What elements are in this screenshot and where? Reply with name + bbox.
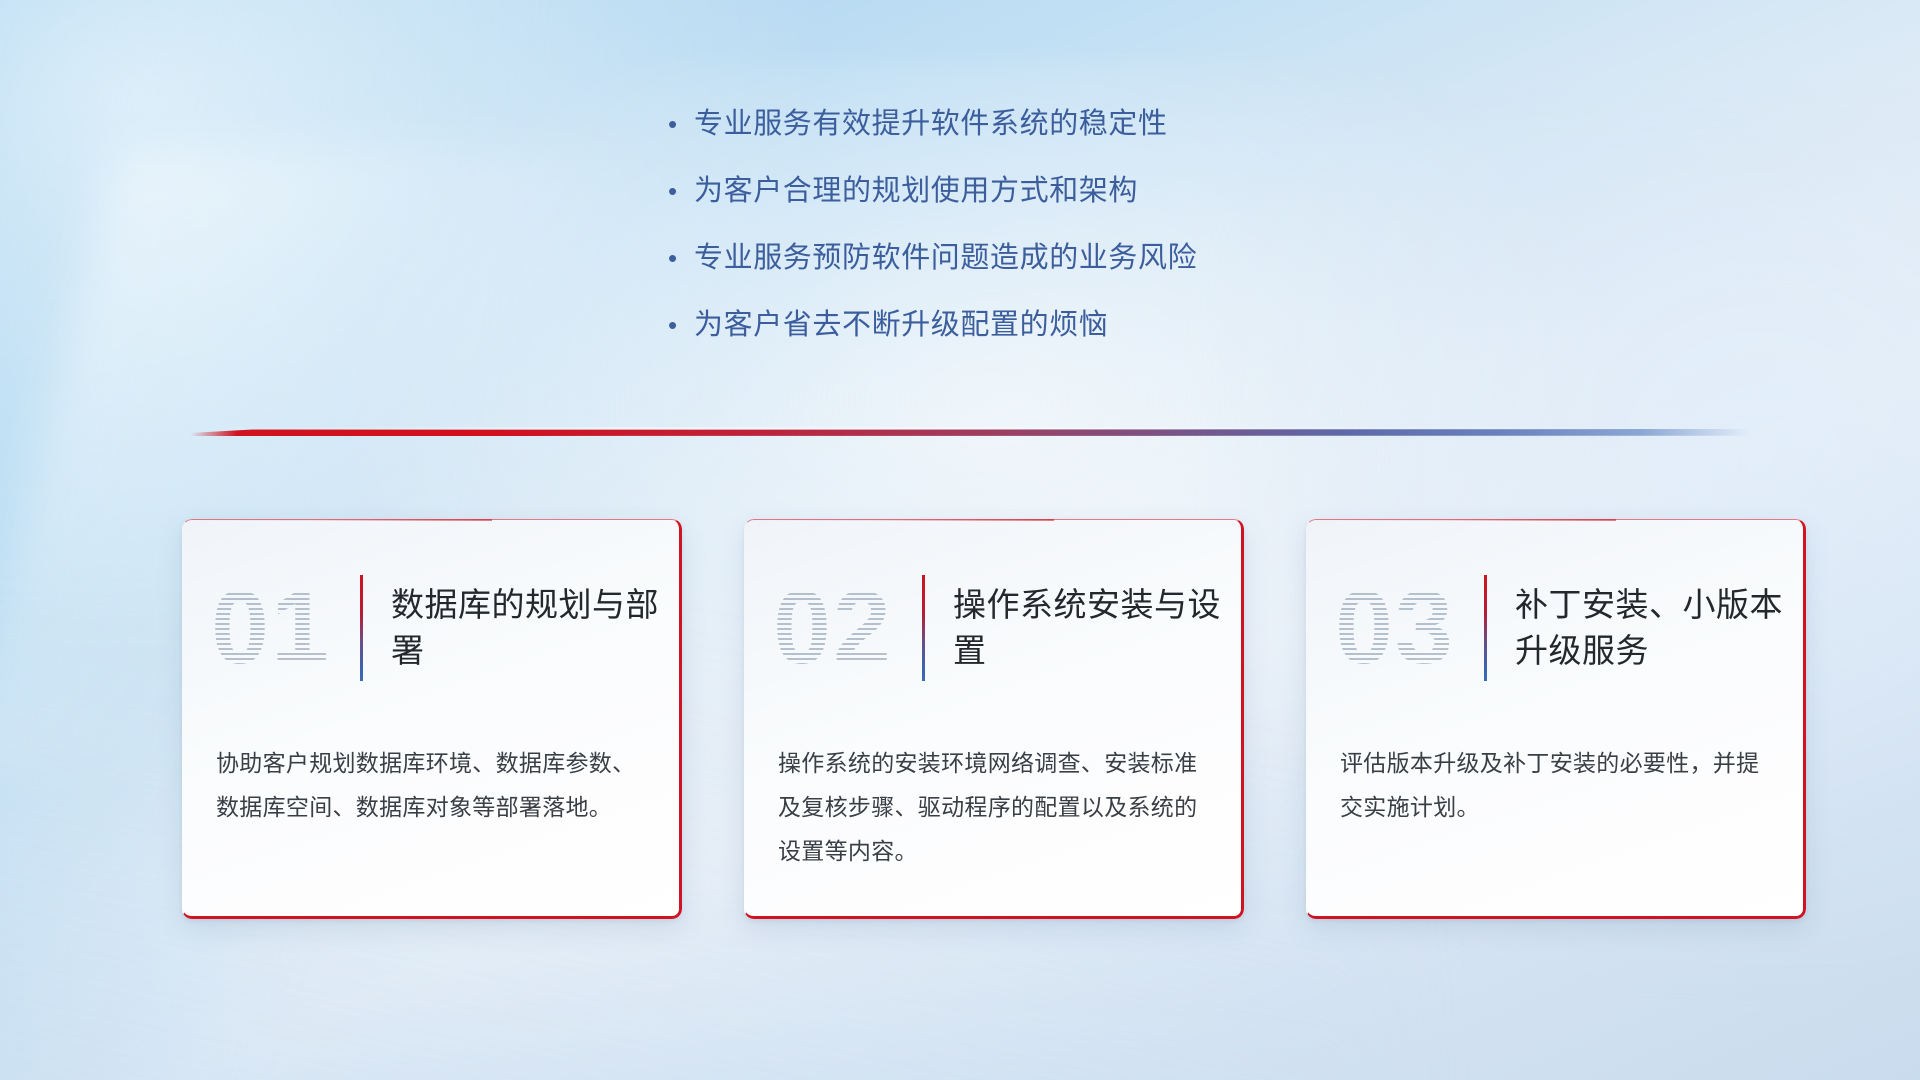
card-title: 补丁安装、小版本升级服务 (1487, 582, 1806, 674)
service-card-01[interactable]: 01 数据库的规划与部署 协助客户规划数据库环境、数据库参数、数据库空间、数据库… (182, 519, 682, 919)
card-title: 操作系统安装与设置 (925, 582, 1244, 674)
bullet-dot-icon: • (668, 238, 694, 278)
list-item: • 专业服务预防软件问题造成的业务风险 (668, 238, 1428, 278)
divider-gradient-bar (190, 429, 1750, 436)
bullet-item-label: 为客户省去不断升级配置的烦恼 (694, 305, 1108, 345)
service-card-03[interactable]: 03 补丁安装、小版本升级服务 评估版本升级及补丁安装的必要性，并提交实施计划。 (1306, 519, 1806, 919)
card-top-accent (182, 519, 492, 521)
card-description: 操作系统的安装环境网络调查、安装标准及复核步骤、驱动程序的配置以及系统的设置等内… (778, 741, 1218, 873)
section-divider (190, 424, 1750, 440)
list-item: • 为客户省去不断升级配置的烦恼 (668, 305, 1428, 345)
list-item: • 为客户合理的规划使用方式和架构 (668, 171, 1428, 211)
card-number-watermark: 01 (182, 573, 360, 683)
bullet-item-label: 专业服务预防软件问题造成的业务风险 (694, 238, 1197, 278)
bullet-dot-icon: • (668, 104, 694, 144)
bullet-item-label: 专业服务有效提升软件系统的稳定性 (694, 104, 1168, 144)
card-top-accent (744, 519, 1054, 521)
card-description: 协助客户规划数据库环境、数据库参数、数据库空间、数据库对象等部署落地。 (216, 741, 656, 829)
service-card-02[interactable]: 02 操作系统安装与设置 操作系统的安装环境网络调查、安装标准及复核步骤、驱动程… (744, 519, 1244, 919)
card-number-watermark: 03 (1306, 573, 1484, 683)
card-header: 03 补丁安装、小版本升级服务 (1306, 573, 1806, 683)
bullet-item-label: 为客户合理的规划使用方式和架构 (694, 171, 1138, 211)
card-header: 02 操作系统安装与设置 (744, 573, 1244, 683)
card-title: 数据库的规划与部署 (363, 582, 682, 674)
bullet-dot-icon: • (668, 305, 694, 345)
divider-highlight (190, 427, 1750, 430)
benefits-bullet-list: • 专业服务有效提升软件系统的稳定性 • 为客户合理的规划使用方式和架构 • 专… (668, 104, 1428, 372)
card-header: 01 数据库的规划与部署 (182, 573, 682, 683)
bullet-dot-icon: • (668, 171, 694, 211)
card-description: 评估版本升级及补丁安装的必要性，并提交实施计划。 (1340, 741, 1780, 829)
card-number-watermark: 02 (744, 573, 922, 683)
service-cards-row: 01 数据库的规划与部署 协助客户规划数据库环境、数据库参数、数据库空间、数据库… (182, 519, 1806, 919)
card-top-accent (1306, 519, 1616, 521)
list-item: • 专业服务有效提升软件系统的稳定性 (668, 104, 1428, 144)
